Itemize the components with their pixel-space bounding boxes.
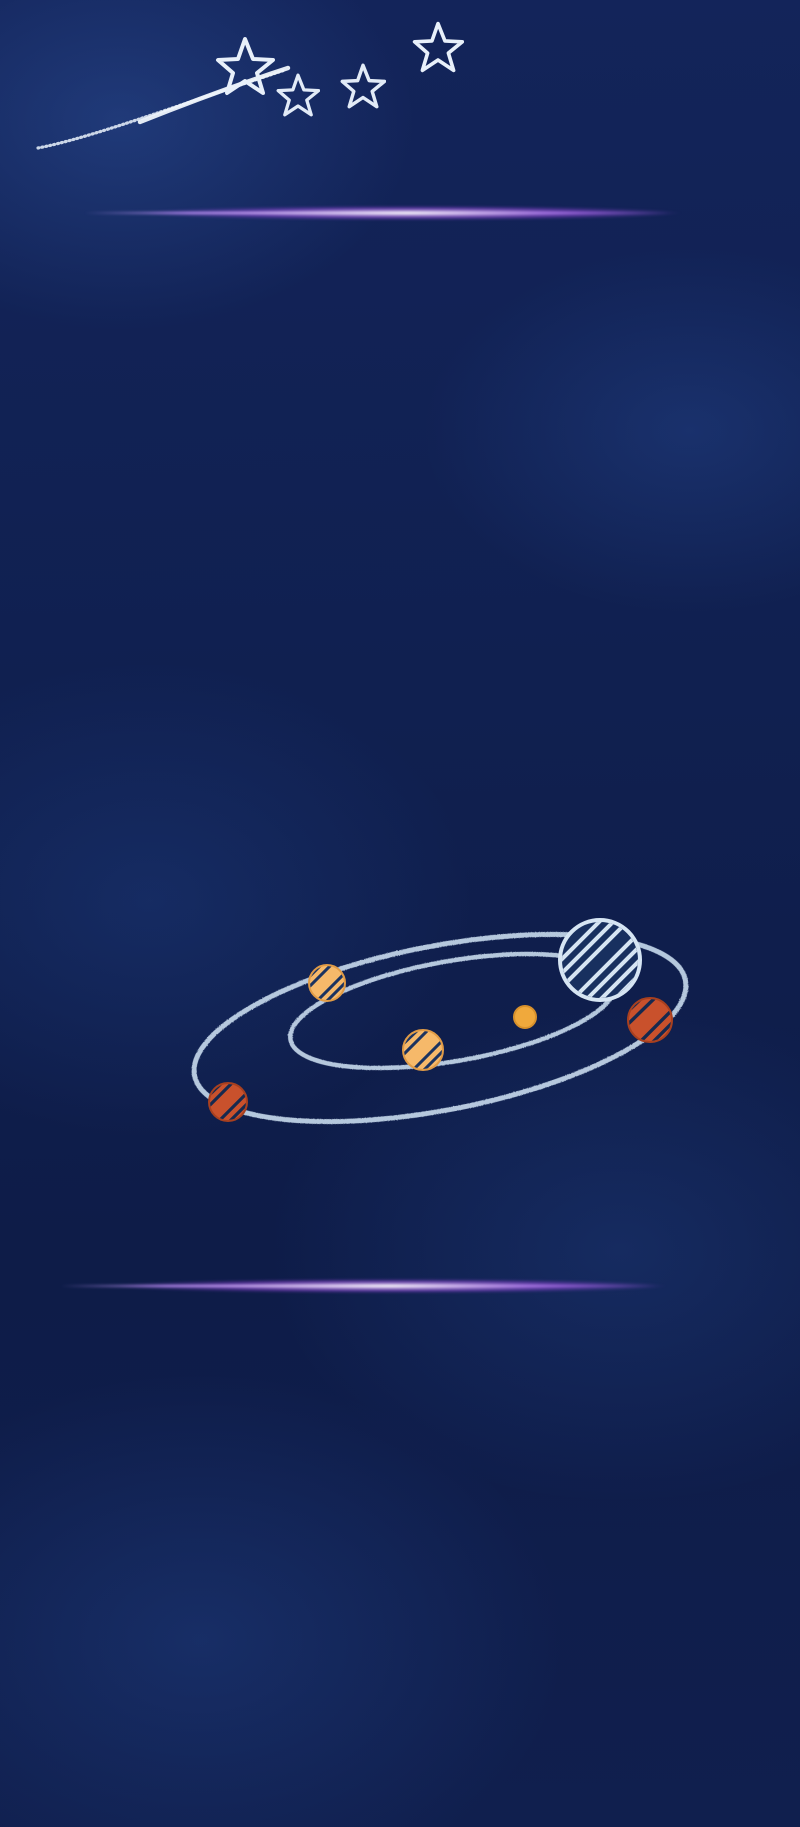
- sketch-star-icon: [412, 20, 464, 74]
- poster-canvas: [0, 0, 800, 1827]
- sketch-star-icon: [215, 35, 275, 97]
- section-divider-02: [58, 205, 698, 221]
- solar-system-illustration: [175, 905, 705, 1150]
- orbit-dot-yellow: [514, 1006, 536, 1028]
- orbit-planet-orange-top: [307, 961, 347, 1003]
- shooting-star-icon: [20, 30, 340, 160]
- orbit-planet-red-right: [624, 993, 676, 1046]
- section-divider-03: [34, 1278, 684, 1294]
- sketch-star-icon: [340, 62, 386, 110]
- starfield: [0, 0, 800, 1827]
- orbit-planet-red-left: [206, 1079, 250, 1124]
- orbit-planet-orange-mid: [400, 1026, 446, 1073]
- sketch-star-icon: [276, 72, 320, 118]
